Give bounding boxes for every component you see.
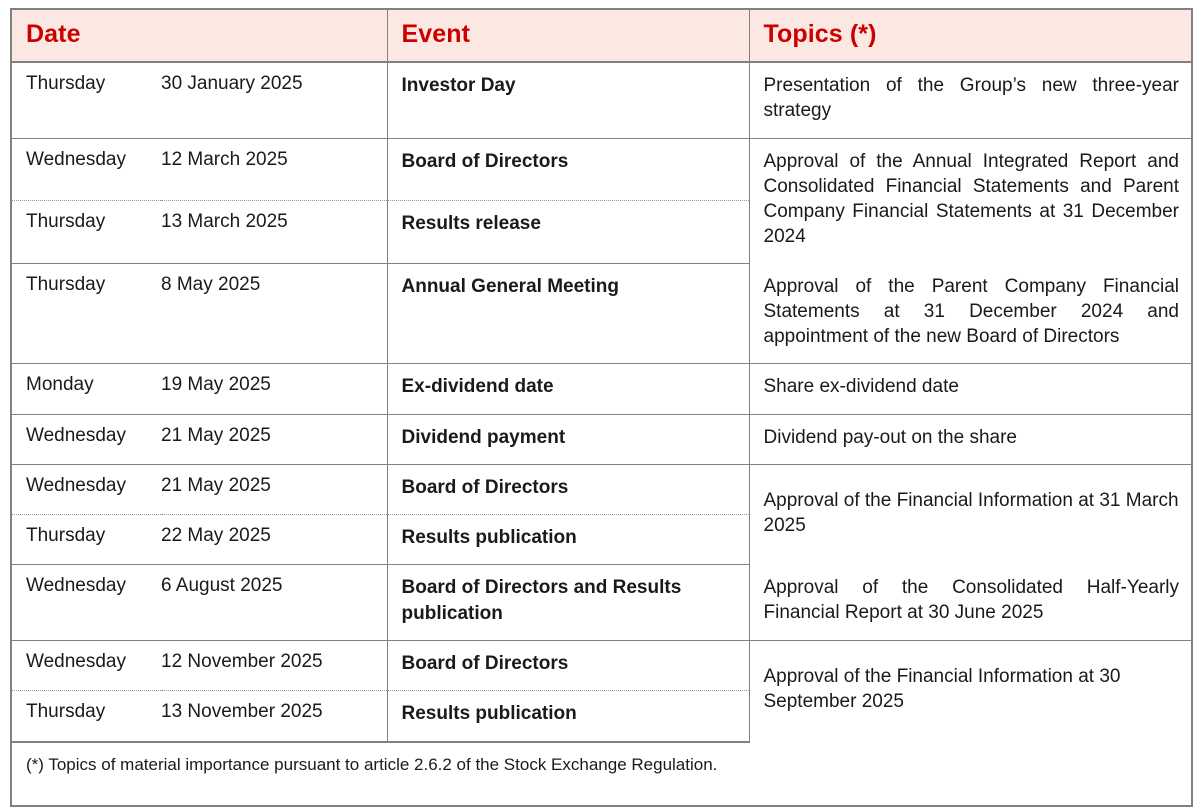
cell-event: Results publication xyxy=(387,515,749,565)
cell-topics: Approval of the Financial Information at… xyxy=(749,464,1192,565)
cell-event: Results publication xyxy=(387,691,749,742)
table-row: Wednesday 6 August 2025 Board of Directo… xyxy=(11,565,1192,641)
cell-event: Board of Directors and Results publicati… xyxy=(387,565,749,641)
cell-date: 13 November 2025 xyxy=(161,691,387,742)
column-header-event: Event xyxy=(387,9,749,62)
cell-topics: Approval of the Consolidated Half-Yearly… xyxy=(749,565,1192,641)
financial-calendar-container: Date Event Topics (*) Thursday 30 Januar… xyxy=(0,0,1200,753)
footnote-text: (*) Topics of material importance pursua… xyxy=(11,742,1192,806)
cell-date: 22 May 2025 xyxy=(161,515,387,565)
cell-event: Board of Directors xyxy=(387,640,749,690)
column-header-date-spacer xyxy=(161,9,387,62)
cell-day: Thursday xyxy=(11,264,161,364)
cell-day: Wednesday xyxy=(11,464,161,514)
cell-event: Board of Directors xyxy=(387,138,749,201)
cell-event: Annual General Meeting xyxy=(387,264,749,364)
cell-day: Thursday xyxy=(11,691,161,742)
cell-date: 12 March 2025 xyxy=(161,138,387,201)
cell-date: 21 May 2025 xyxy=(161,414,387,464)
cell-event: Ex-dividend date xyxy=(387,364,749,414)
column-header-date: Date xyxy=(11,9,161,62)
header-row: Date Event Topics (*) xyxy=(11,9,1192,62)
cell-date: 6 August 2025 xyxy=(161,565,387,641)
cell-date: 12 November 2025 xyxy=(161,640,387,690)
table-row: Wednesday 21 May 2025 Board of Directors… xyxy=(11,464,1192,514)
table-header: Date Event Topics (*) xyxy=(11,9,1192,62)
cell-day: Monday xyxy=(11,364,161,414)
cell-date: 8 May 2025 xyxy=(161,264,387,364)
table-row: Wednesday 12 March 2025 Board of Directo… xyxy=(11,138,1192,201)
table-row: Monday 19 May 2025 Ex-dividend date Shar… xyxy=(11,364,1192,414)
table-row: Thursday 30 January 2025 Investor Day Pr… xyxy=(11,62,1192,138)
cell-event: Dividend payment xyxy=(387,414,749,464)
column-header-topics: Topics (*) xyxy=(749,9,1192,62)
cell-topics: Dividend pay-out on the share xyxy=(749,414,1192,464)
cell-day: Wednesday xyxy=(11,414,161,464)
cell-event: Board of Directors xyxy=(387,464,749,514)
table-row: Wednesday 12 November 2025 Board of Dire… xyxy=(11,640,1192,690)
cell-topics: Share ex-dividend date xyxy=(749,364,1192,414)
cell-topics: Approval of the Parent Company Financial… xyxy=(749,264,1192,364)
table-row: Wednesday 21 May 2025 Dividend payment D… xyxy=(11,414,1192,464)
cell-day: Wednesday xyxy=(11,565,161,641)
cell-topics: Approval of the Annual Integrated Report… xyxy=(749,138,1192,264)
footnote-row: (*) Topics of material importance pursua… xyxy=(11,742,1192,806)
table-body: Thursday 30 January 2025 Investor Day Pr… xyxy=(11,62,1192,806)
table-row: Thursday 8 May 2025 Annual General Meeti… xyxy=(11,264,1192,364)
cell-date: 30 January 2025 xyxy=(161,62,387,138)
cell-day: Wednesday xyxy=(11,138,161,201)
cell-day: Wednesday xyxy=(11,640,161,690)
cell-date: 13 March 2025 xyxy=(161,201,387,264)
cell-topics: Approval of the Financial Information at… xyxy=(749,640,1192,741)
cell-date: 19 May 2025 xyxy=(161,364,387,414)
cell-event: Investor Day xyxy=(387,62,749,138)
financial-calendar-table: Date Event Topics (*) Thursday 30 Januar… xyxy=(10,8,1193,807)
cell-day: Thursday xyxy=(11,201,161,264)
cell-day: Thursday xyxy=(11,62,161,138)
cell-day: Thursday xyxy=(11,515,161,565)
cell-date: 21 May 2025 xyxy=(161,464,387,514)
cell-event: Results release xyxy=(387,201,749,264)
cell-topics: Presentation of the Group’s new three-ye… xyxy=(749,62,1192,138)
